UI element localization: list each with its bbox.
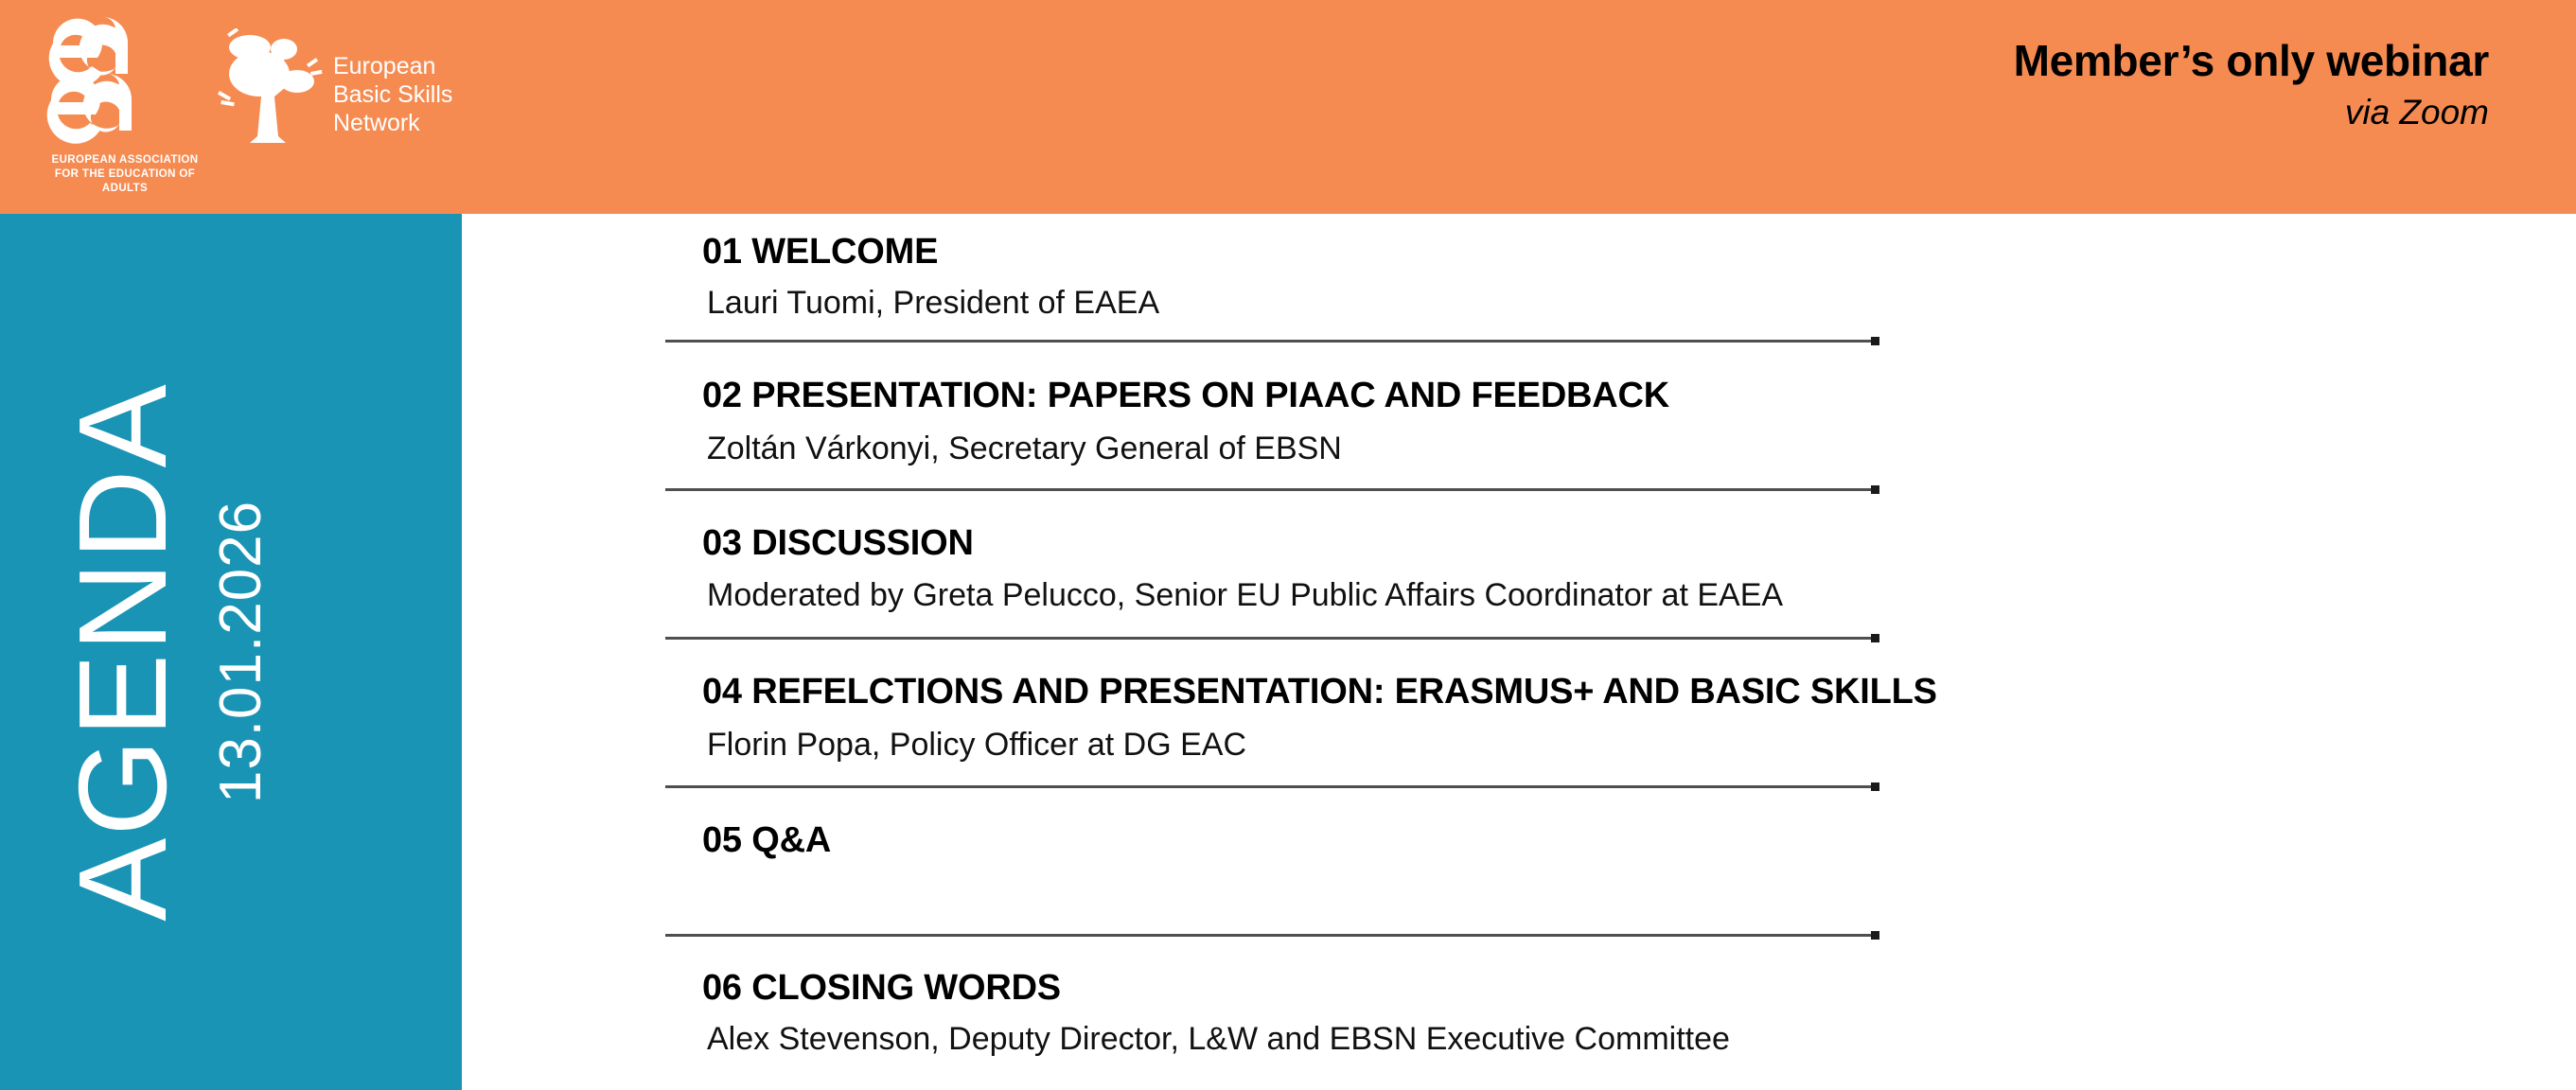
agenda-item-speaker: Moderated by Greta Pelucco, Senior EU Pu… bbox=[707, 575, 1783, 615]
eaea-logo-subtext: EUROPEAN ASSOCIATION FOR THE EDUCATION O… bbox=[42, 153, 208, 196]
ebsn-wordmark: European Basic Skills Network bbox=[333, 52, 452, 137]
ebsn-wordmark-line-1: European bbox=[333, 52, 452, 80]
webinar-platform: via Zoom bbox=[2014, 91, 2489, 134]
webinar-title: Member’s only webinar bbox=[2014, 36, 2489, 85]
ebsn-wordmark-line-3: Network bbox=[333, 109, 452, 137]
ebsn-logo: European Basic Skills Network bbox=[210, 28, 494, 151]
agenda-sidebar: AGENDA 13.01.2026 bbox=[0, 214, 462, 1090]
agenda-divider bbox=[665, 934, 1874, 937]
agenda-item-title: 05 Q&A bbox=[702, 819, 831, 861]
agenda-divider bbox=[665, 340, 1874, 343]
agenda-item-title: 02 PRESENTATION: PAPERS ON PIAAC AND FEE… bbox=[702, 375, 1669, 416]
agenda-item-title: 04 REFELCTIONS AND PRESENTATION: ERASMUS… bbox=[702, 671, 1937, 712]
agenda-item-speaker: Zoltán Várkonyi, Secretary General of EB… bbox=[707, 429, 1342, 468]
agenda-item-title: 01 WELCOME bbox=[702, 231, 938, 272]
header-bar: EUROPEAN ASSOCIATION FOR THE EDUCATION O… bbox=[0, 0, 2576, 214]
ebsn-wordmark-line-2: Basic Skills bbox=[333, 80, 452, 109]
sidebar-date: 13.01.2026 bbox=[203, 214, 279, 1090]
agenda-item-title: 03 DISCUSSION bbox=[702, 522, 974, 564]
agenda-divider bbox=[665, 637, 1874, 640]
agenda-item-title: 06 CLOSING WORDS bbox=[702, 967, 1061, 1009]
header-right-text-block: Member’s only webinar via Zoom bbox=[2014, 36, 2489, 134]
agenda-item-speaker: Alex Stevenson, Deputy Director, L&W and… bbox=[707, 1019, 1730, 1059]
tree-icon bbox=[210, 28, 328, 147]
eaea-logomark-icon bbox=[45, 9, 168, 151]
agenda-item-speaker: Lauri Tuomi, President of EAEA bbox=[707, 283, 1159, 323]
sidebar-heading: AGENDA bbox=[47, 214, 199, 1090]
agenda-item-speaker: Florin Popa, Policy Officer at DG EAC bbox=[707, 725, 1246, 765]
eaea-logo: EUROPEAN ASSOCIATION FOR THE EDUCATION O… bbox=[38, 9, 208, 203]
agenda-divider bbox=[665, 488, 1874, 491]
agenda-divider bbox=[665, 785, 1874, 788]
